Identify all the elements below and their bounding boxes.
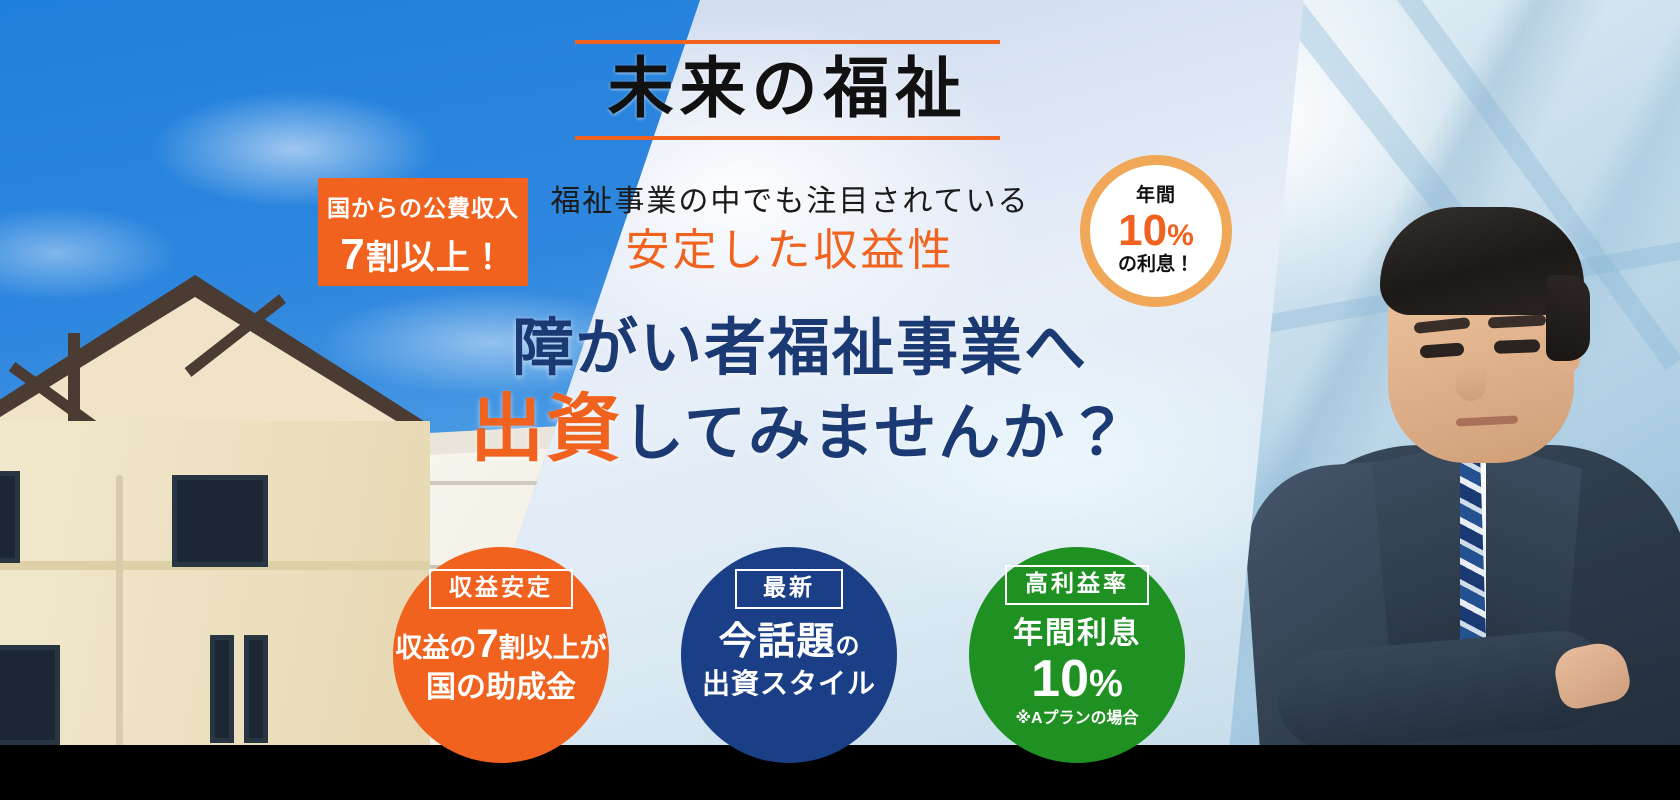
annual-interest-ring-badge: 年間 10% の利息！ bbox=[1080, 155, 1232, 307]
house-window bbox=[0, 471, 20, 563]
businessman-figure bbox=[1260, 25, 1680, 745]
feature-circle-line-2: 出資スタイル bbox=[702, 666, 876, 701]
subtitle-line-2: 安定した収益性 bbox=[520, 221, 1060, 280]
feature-circle-tag: 収益安定 bbox=[429, 569, 573, 609]
feature-circle-line-2: 国の助成金 bbox=[395, 669, 606, 707]
house-window bbox=[0, 645, 60, 745]
feature-circle-line2-number: 10 bbox=[1031, 650, 1089, 708]
headline-line-2: 出資してみませんか？ bbox=[470, 385, 1130, 472]
feature-circle-line1-suffix: 割以上が bbox=[499, 633, 607, 663]
subtitle-line-1: 福祉事業の中でも注目されている bbox=[520, 182, 1060, 221]
feature-circle-line-2: 10% bbox=[1013, 652, 1141, 707]
feature-circle-line1-number: 7 bbox=[476, 622, 498, 666]
feature-circle-tag: 最新 bbox=[735, 569, 843, 609]
feature-circle-tag: 高利益率 bbox=[1005, 565, 1149, 605]
ring-badge-number: 10 bbox=[1118, 206, 1167, 255]
feature-circle-footnote: ※Aプランの場合 bbox=[1013, 709, 1141, 729]
public-funding-badge-number: 7 bbox=[340, 230, 365, 279]
ring-badge-top-label: 年間 bbox=[1136, 186, 1176, 207]
feature-circle-high-yield[interactable]: 高利益率 年間利息 10% ※Aプランの場合 bbox=[969, 547, 1185, 763]
feature-circle-stable-revenue[interactable]: 収益安定 収益の7割以上が 国の助成金 bbox=[393, 547, 609, 763]
house-downpipe bbox=[116, 475, 123, 745]
businessman-eye bbox=[1494, 339, 1540, 354]
headline-line-1: 障がい者福祉事業へ bbox=[470, 312, 1130, 385]
feature-circle-line-1: 今話題の bbox=[702, 619, 876, 667]
feature-circle-line1-big: 今話題 bbox=[718, 621, 835, 663]
hero-banner: 未来の福祉 福祉事業の中でも注目されている 安定した収益性 障がい者福祉事業へ … bbox=[0, 0, 1680, 800]
public-funding-badge-label: 国からの公費収入 bbox=[318, 194, 528, 223]
title-rule-bottom bbox=[575, 136, 1000, 140]
headline-accent-word: 出資 bbox=[470, 387, 622, 470]
feature-circle-line-1: 年間利息 bbox=[1013, 615, 1141, 653]
feature-circle-body: 収益の7割以上が 国の助成金 bbox=[395, 619, 606, 707]
title-block: 未来の福祉 bbox=[575, 40, 1000, 140]
headline-rest-text: してみませんか？ bbox=[622, 399, 1130, 468]
page-title: 未来の福祉 bbox=[575, 44, 1000, 136]
primary-house bbox=[0, 275, 430, 745]
house-window bbox=[210, 635, 234, 743]
businessman-sideburn bbox=[1546, 275, 1590, 361]
subtitle-block: 福祉事業の中でも注目されている 安定した収益性 bbox=[520, 182, 1060, 280]
feature-circle-line2-percent: % bbox=[1089, 663, 1123, 705]
businessman-lapel bbox=[1486, 443, 1582, 655]
feature-circle-line1-prefix: 収益の bbox=[395, 633, 476, 663]
house-window bbox=[172, 475, 268, 567]
feature-circle-latest-style[interactable]: 最新 今話題の 出資スタイル bbox=[681, 547, 897, 763]
bottom-black-band bbox=[0, 745, 1680, 800]
ring-badge-bottom-label: の利息！ bbox=[1118, 255, 1194, 276]
headline-block: 障がい者福祉事業へ 出資してみませんか？ bbox=[470, 312, 1130, 472]
house-window bbox=[244, 635, 268, 743]
public-funding-badge: 国からの公費収入 7割以上！ bbox=[318, 178, 528, 286]
public-funding-badge-value: 7割以上！ bbox=[318, 227, 528, 282]
businessman-nose bbox=[1456, 367, 1486, 401]
feature-circle-line1-small: の bbox=[836, 633, 860, 660]
feature-circle-body: 今話題の 出資スタイル bbox=[702, 619, 876, 702]
feature-circle-body: 年間利息 10% ※Aプランの場合 bbox=[1013, 615, 1141, 730]
feature-circle-line-1: 収益の7割以上が bbox=[395, 619, 606, 669]
public-funding-badge-suffix: 割以上！ bbox=[366, 239, 506, 277]
ring-badge-percent: % bbox=[1167, 219, 1194, 252]
ring-badge-value: 10% bbox=[1118, 207, 1194, 255]
